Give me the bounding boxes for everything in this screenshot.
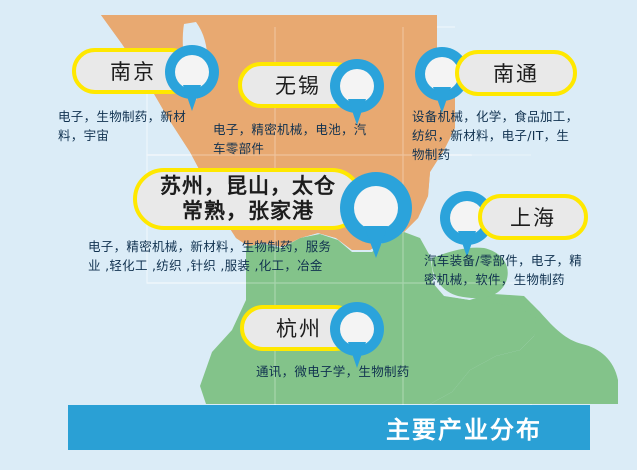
banner-title-text: 主要产业分布 (386, 410, 590, 445)
industry-description-wuxi: 电子，精密机械，电池，汽车零部件 (213, 121, 373, 159)
city-label-shanghai[interactable]: 上海 (478, 194, 588, 240)
map-pin-icon-hangzhou[interactable] (330, 302, 384, 370)
pin-hole (340, 69, 374, 103)
city-label-suzhou-cluster[interactable]: 苏州，昆山，太仓 常熟，张家港 (133, 168, 363, 230)
pin-hole (175, 55, 209, 89)
infographic-canvas: 南京 电子，生物制药，新材料，宇宙 无锡 电子，精密机械，电池，汽车零部件 南通… (0, 0, 637, 470)
pin-hole (340, 312, 374, 346)
map-pin-icon-wuxi[interactable] (330, 59, 384, 127)
map-pin-icon-nanjing[interactable] (165, 45, 219, 113)
city-label-nantong[interactable]: 南通 (455, 50, 577, 96)
industry-description-hangzhou: 通讯，微电子学，生物制药 (256, 363, 496, 382)
city-label-line-1: 苏州，昆山，太仓 (160, 174, 336, 199)
pin-hole (354, 186, 398, 230)
map-pin-icon-suzhou-cluster[interactable] (340, 172, 412, 262)
city-label-line-2: 常熟，张家港 (182, 199, 314, 224)
pin-hole (425, 57, 459, 91)
title-banner: 主要产业分布 (68, 405, 590, 450)
industry-description-nantong: 设备机械，化学，食品加工，纺织，新材料，电子/IT，生物制药 (412, 108, 580, 164)
industry-description-shanghai: 汽车装备/零部件，电子，精密机械，软件，生物制药 (424, 252, 584, 290)
industry-description-suzhou-cluster: 电子，精密机械，新材料，生物制药，服务业 ,轻化工 ,纺织 ,针织 ,服装 ,化… (88, 238, 338, 276)
industry-description-nanjing: 电子，生物制药，新材料，宇宙 (58, 108, 210, 146)
pin-tail (364, 226, 388, 258)
